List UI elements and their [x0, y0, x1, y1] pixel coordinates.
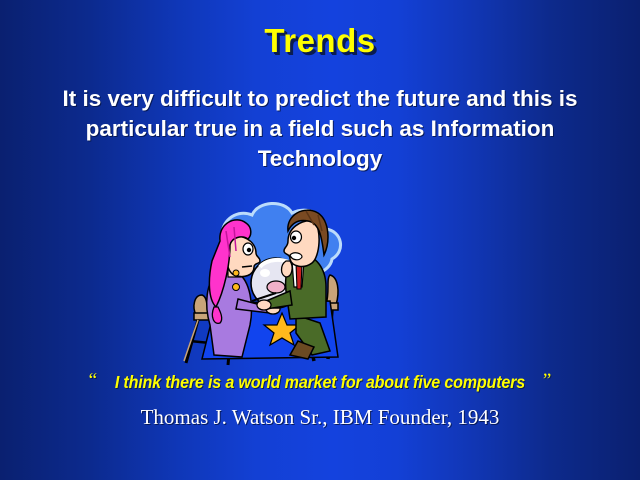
- quote-open-mark: “: [89, 370, 97, 391]
- body-paragraph: It is very difficult to predict the futu…: [40, 84, 600, 174]
- page-title: Trends: [0, 22, 640, 60]
- quote-line: “I think there is a world market for abo…: [0, 370, 640, 393]
- quote-close-mark: ”: [543, 370, 551, 391]
- fortune-teller-clipart: [180, 195, 365, 373]
- quote-attribution: Thomas J. Watson Sr., IBM Founder, 1943: [0, 405, 640, 430]
- slide-canvas: Trends It is very difficult to predict t…: [0, 0, 640, 480]
- quote-text: I think there is a world market for abou…: [115, 372, 525, 393]
